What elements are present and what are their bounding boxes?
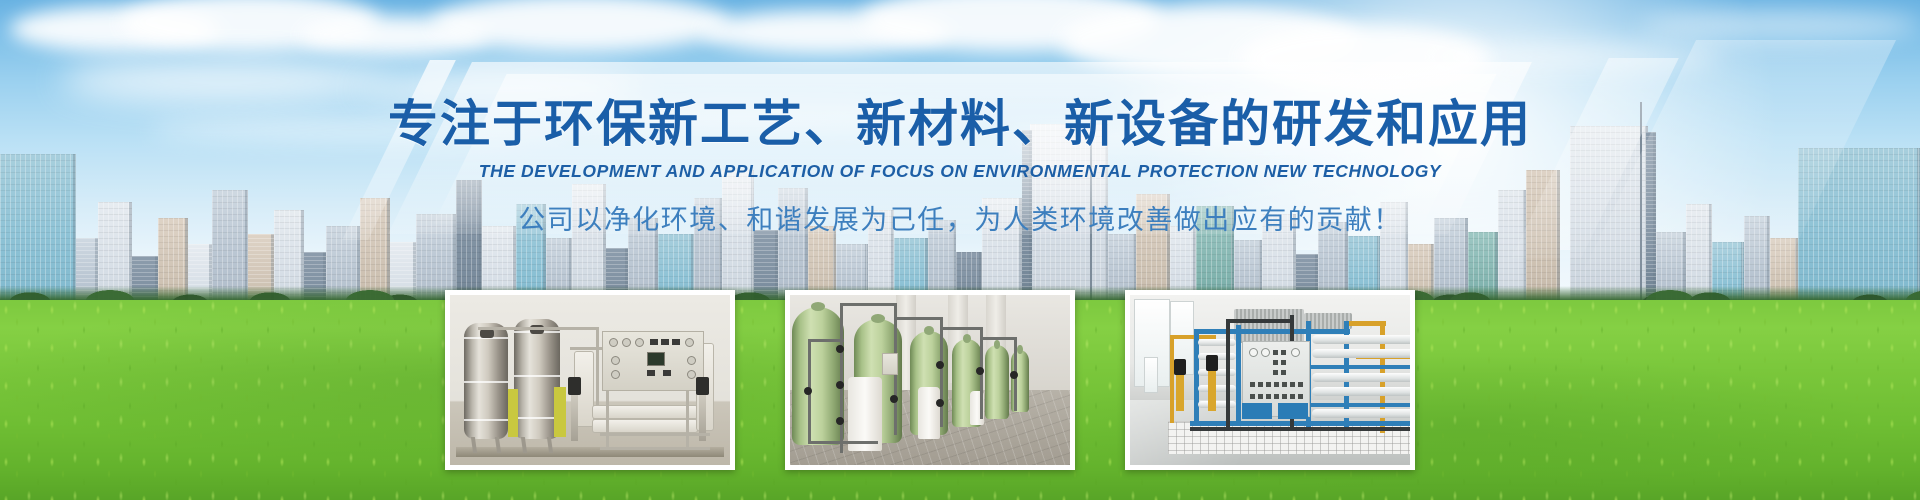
pipe: [596, 327, 599, 409]
blue-frame: [1306, 403, 1410, 407]
blue-frame: [1194, 329, 1350, 334]
ro-vessel: [1312, 409, 1410, 418]
ro-tube: [1198, 385, 1236, 392]
photo-strip: [0, 290, 1920, 476]
pump-body: [1208, 371, 1216, 411]
ro-vessel: [1312, 373, 1410, 382]
blue-frame: [1236, 325, 1241, 425]
ro-vessel: [1312, 349, 1410, 358]
dark-pipe: [1226, 319, 1230, 427]
pump-motor: [696, 377, 709, 395]
dark-pipe: [1190, 427, 1410, 431]
control-panel: [602, 331, 704, 391]
ro-tube: [1198, 401, 1236, 408]
banner-headline: 专注于环保新工艺、新材料、新设备的研发和应用: [0, 96, 1920, 152]
tank-controller: [882, 353, 898, 375]
photo-1-content: [450, 295, 730, 465]
ro-vessel: [1312, 335, 1410, 344]
blue-frame: [1306, 365, 1410, 369]
dark-pipe: [1226, 319, 1294, 323]
orange-frame: [1170, 335, 1174, 423]
filter-housing: [1144, 357, 1158, 393]
banner-text-block: 专注于环保新工艺、新材料、新设备的研发和应用 THE DEVELOPMENT A…: [0, 96, 1920, 237]
blue-equipment-box: [1278, 403, 1308, 419]
pump-motor: [1206, 355, 1218, 371]
pipe: [478, 327, 598, 330]
blue-equipment-box: [1242, 403, 1272, 419]
yellow-marker: [508, 389, 518, 437]
white-tank: [848, 377, 882, 451]
pump-motor: [1174, 359, 1186, 375]
hero-banner: 专注于环保新工艺、新材料、新设备的研发和应用 THE DEVELOPMENT A…: [0, 0, 1920, 500]
banner-tagline: 公司以净化环境、和谐发展为己任，为人类环境改善做出应有的贡献！: [0, 198, 1920, 237]
banner-subtitle-english: THE DEVELOPMENT AND APPLICATION OF FOCUS…: [0, 161, 1920, 182]
photo-2-content: [790, 295, 1070, 465]
blue-frame: [1190, 421, 1410, 426]
ro-vessel: [1312, 387, 1410, 396]
photo-stainless-ro-skid[interactable]: [445, 290, 735, 470]
riser-pipe: [840, 303, 843, 453]
white-tank: [918, 387, 940, 439]
pump-body: [1176, 375, 1184, 411]
stainless-tank: [464, 323, 508, 439]
ro-tube: [1198, 339, 1236, 346]
yellow-marker: [554, 387, 566, 437]
cloud: [1640, 10, 1920, 40]
frp-tank: [985, 345, 1009, 419]
photo-industrial-ro-plant[interactable]: [1125, 290, 1415, 470]
photo-3-content: [1130, 295, 1410, 465]
photo-frp-filter-tanks[interactable]: [785, 290, 1075, 470]
pump-body: [571, 395, 578, 441]
frp-tank: [792, 307, 844, 445]
pump-motor: [568, 377, 581, 395]
tank-valve-head: [480, 329, 494, 338]
orange-frame: [1346, 321, 1386, 326]
